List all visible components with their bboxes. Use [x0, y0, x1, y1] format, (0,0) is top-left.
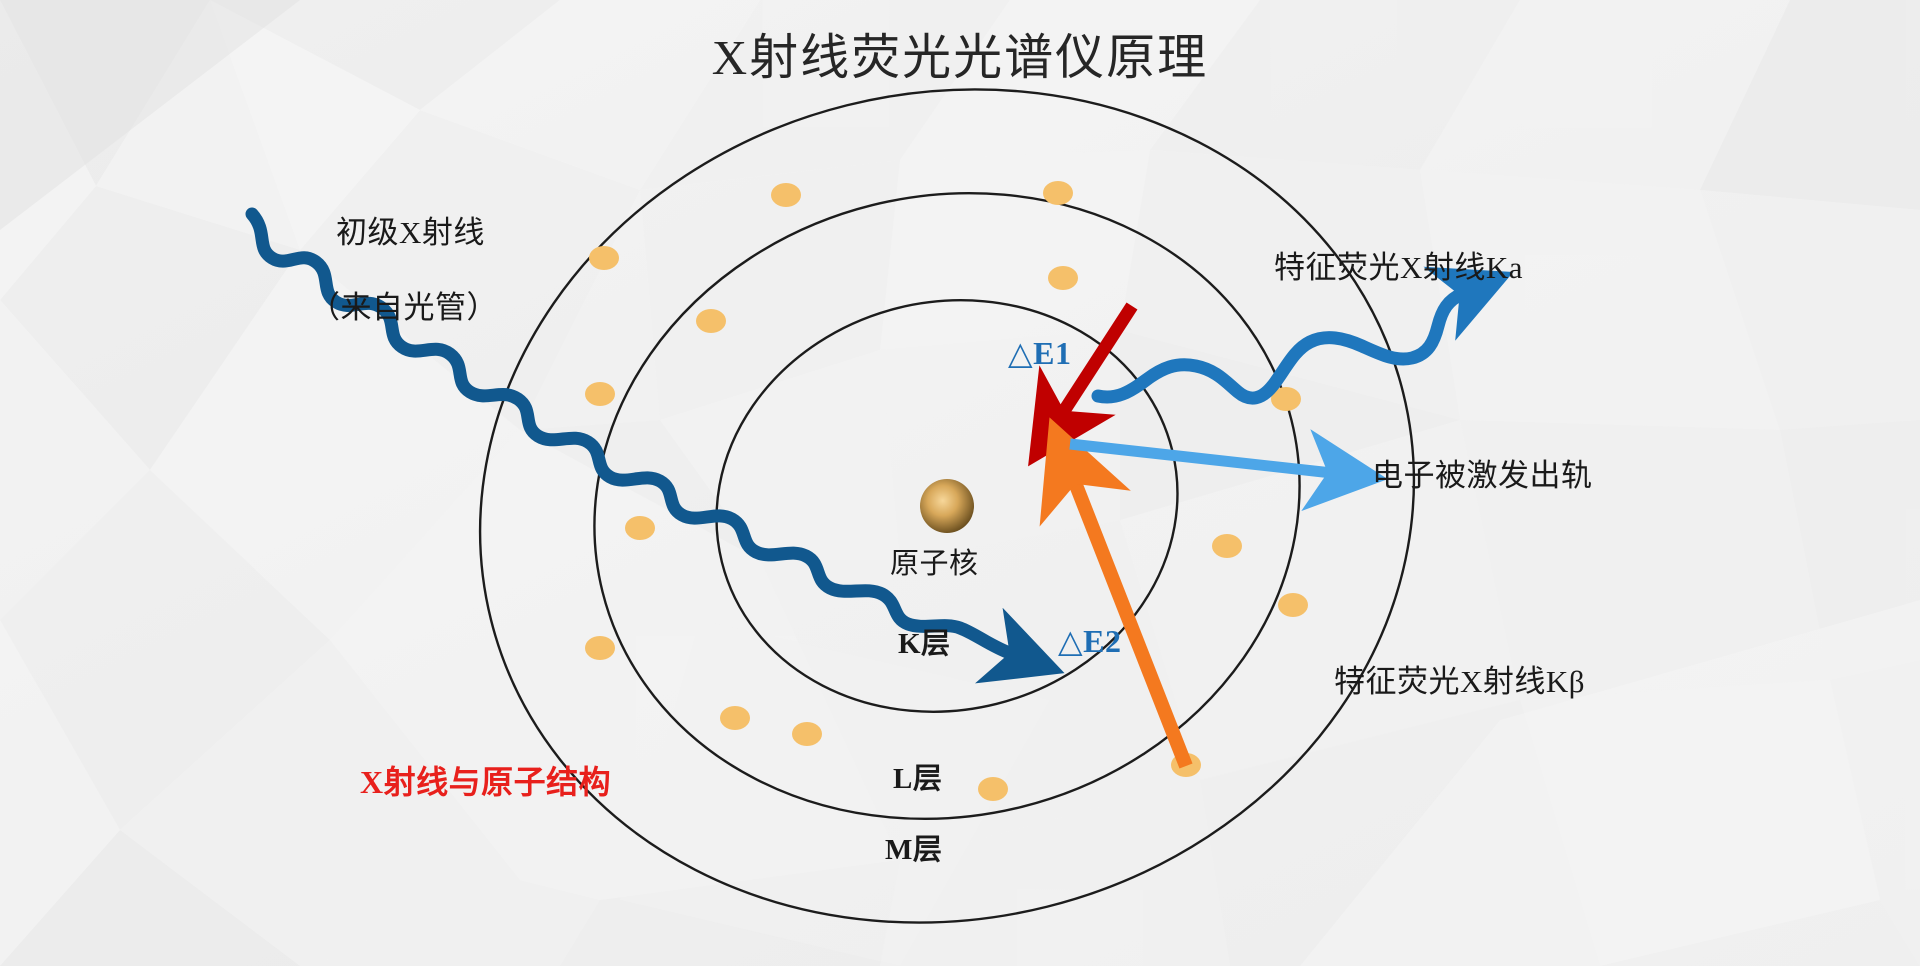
delta-e2-label: △E2 — [1058, 622, 1121, 661]
nucleus-label: 原子核 — [890, 547, 979, 582]
primary-x-ray-label: 初级X射线 （来自光管） — [303, 176, 498, 403]
electron-dot — [792, 722, 822, 746]
shell-k-label: K层 — [898, 627, 951, 662]
electron-dot — [1048, 266, 1078, 290]
electron-dot — [1278, 593, 1308, 617]
electron-dot — [585, 636, 615, 660]
electron-dot — [585, 382, 615, 406]
diagram-canvas: X射线荧光光谱仪原理 初级X射线 （来自光管） 特征荧光X射线Ka 特征荧光X射… — [0, 0, 1920, 966]
shell-m-label: M层 — [885, 833, 942, 868]
electron-dot — [1212, 534, 1242, 558]
xrf-schematic-svg — [0, 0, 1920, 966]
delta-e1-label: △E1 — [1008, 334, 1071, 373]
electron-dot — [696, 309, 726, 333]
primary-x-ray-label-line2: （来自光管） — [309, 289, 498, 327]
ejected-electron-label: 电子被激发出轨 — [1372, 457, 1593, 495]
electron-dot — [1043, 181, 1073, 205]
characteristic-ka-label: 特征荧光X射线Ka — [1274, 249, 1523, 287]
electron-dot — [978, 777, 1008, 801]
page-title: X射线荧光光谱仪原理 — [0, 28, 1920, 88]
electron-dot — [771, 183, 801, 207]
electron-dot — [720, 706, 750, 730]
ejected-electron-arrow — [1070, 444, 1332, 473]
primary-x-ray-label-line1: 初级X射线 — [336, 215, 485, 250]
electron-dot — [625, 516, 655, 540]
electron-dot — [589, 246, 619, 270]
caption-xray-atomic-structure: X射线与原子结构 — [360, 763, 611, 802]
characteristic-kb-label: 特征荧光X射线Kβ — [1334, 663, 1585, 701]
nucleus-sphere — [920, 479, 974, 533]
characteristic-ka-wave — [1098, 294, 1462, 398]
shell-l-label: L层 — [893, 762, 942, 797]
